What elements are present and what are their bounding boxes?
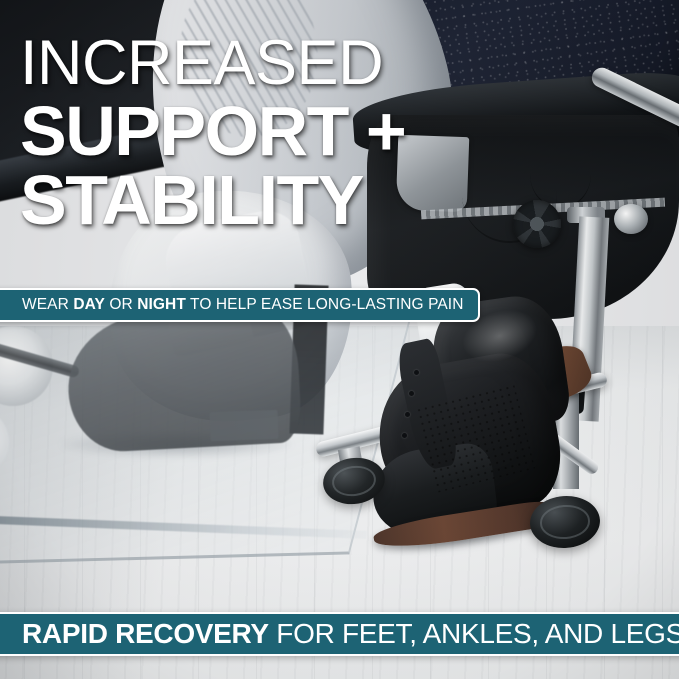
bottom-banner-text: RAPID RECOVERY FOR FEET, ANKLES, AND LEG… — [22, 618, 679, 650]
subtitle-banner: WEAR DAY OR NIGHT TO HELP EASE LONG-LAST… — [0, 288, 480, 322]
caster-ring — [329, 464, 377, 499]
subtitle-prefix: WEAR — [22, 296, 73, 313]
bottom-banner: RAPID RECOVERY FOR FEET, ANKLES, AND LEG… — [0, 612, 679, 656]
headline-line-1: INCREASED — [20, 34, 660, 93]
caster-ring — [538, 503, 591, 540]
background-shoe-heel — [210, 410, 279, 441]
subtitle-banner-text: WEAR DAY OR NIGHT TO HELP EASE LONG-LAST… — [22, 296, 464, 314]
headline-block: INCREASED SUPPORT + STABILITY — [20, 34, 660, 233]
bottom-banner-bold: RAPID RECOVERY — [22, 618, 269, 649]
poster-canvas: INCREASED SUPPORT + STABILITY WEAR DAY O… — [0, 0, 679, 679]
bottom-banner-rest: FOR FEET, ANKLES, AND LEGS — [269, 618, 679, 649]
subtitle-suffix: TO HELP EASE LONG-LASTING PAIN — [186, 296, 464, 313]
headline-line-3: STABILITY — [20, 168, 660, 233]
headline-line-2: SUPPORT + — [20, 99, 660, 164]
subtitle-bold-night: NIGHT — [137, 296, 186, 313]
subtitle-mid: OR — [105, 296, 137, 313]
subtitle-bold-day: DAY — [73, 296, 105, 313]
